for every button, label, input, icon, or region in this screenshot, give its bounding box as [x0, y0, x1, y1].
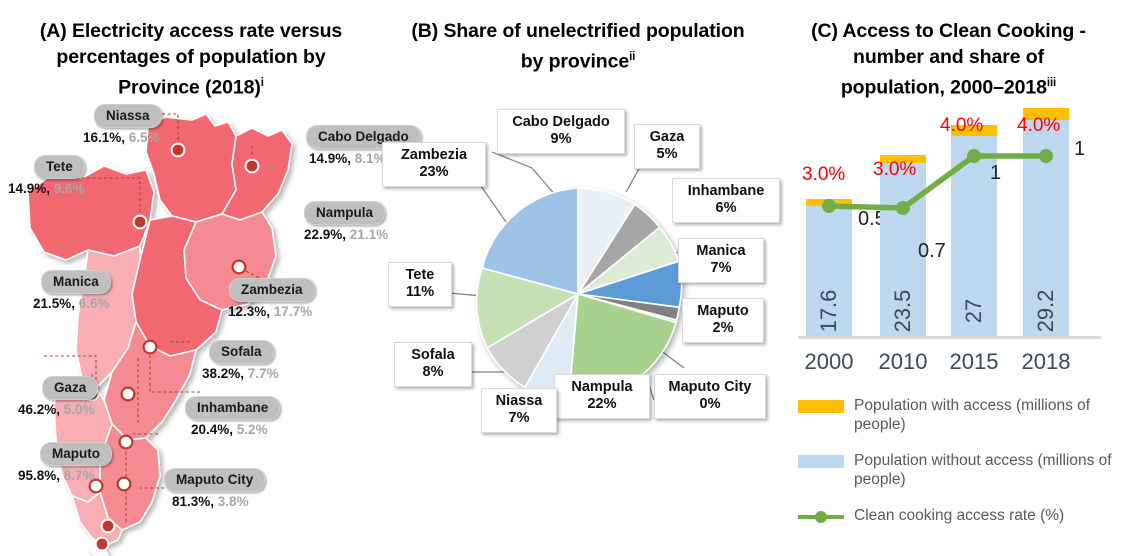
panel-a-title-line1: (A) Electricity access rate versus [40, 20, 342, 42]
clean-cooking-bar-chart: 17.6 0.5 3.0% 23.5 0.7 3.0% 27 1 4.0% 29… [774, 108, 1123, 383]
panel-b-title-line2: by province [521, 51, 629, 73]
pie-callout-value-maputo: 2% [690, 320, 756, 337]
map-pop-gaza: 5.0% [64, 402, 95, 417]
map-values-niassa: 16.1%, 6.5% [83, 130, 160, 145]
map-pop-maputo-city: 3.8% [218, 494, 249, 509]
panel-a-electricity-access-map: (A) Electricity access rate versus perce… [0, 0, 382, 556]
panel-b-title: (B) Share of unelectrified population by… [382, 0, 774, 75]
pie-callout-zambezia[interactable]: Zambezia 23% [382, 142, 486, 187]
map-label-niassa[interactable]: Niassa [94, 104, 162, 128]
line-point-2018[interactable] [1039, 149, 1053, 163]
line-point-2000[interactable] [822, 199, 836, 213]
map-access-maputo-city: 81.3% [172, 494, 210, 509]
map-values-cabo-delgado: 14.9%, 8.1% [309, 151, 386, 166]
panel-c-title-line2: number and share of [853, 46, 1044, 68]
pie-callout-label-manica: Manica [696, 243, 745, 259]
map-values-sofala: 38.2%, 7.7% [202, 366, 279, 381]
map-values-gaza: 46.2%, 5.0% [18, 402, 95, 417]
map-access-manica: 21.5% [33, 296, 71, 311]
legend-item-without-access[interactable]: Population without access (millions of p… [798, 451, 1123, 489]
legend-label-access-rate: Clean cooking access rate (%) [854, 506, 1064, 525]
green-line-icon [798, 510, 844, 523]
legend-item-access-rate[interactable]: Clean cooking access rate (%) [798, 506, 1123, 525]
pie-callout-value-tete: 11% [396, 284, 444, 301]
map-access-gaza: 46.2% [18, 402, 56, 417]
map-label-manica[interactable]: Manica [41, 270, 111, 294]
pie-callout-niassa[interactable]: Niassa 7% [481, 388, 557, 433]
map-label-maputo-city[interactable]: Maputo City [164, 468, 265, 492]
panel-a-title-line2: percentages of population by [56, 46, 325, 68]
pie-callout-gaza[interactable]: Gaza 5% [634, 124, 700, 169]
map-access-nampula: 22.9% [304, 227, 342, 242]
pie-callout-label-sofala: Sofala [411, 347, 455, 363]
panel-c-title-line3: population, 2000–2018 [841, 77, 1047, 99]
map-access-zambezia: 12.3% [228, 304, 266, 319]
map-label-gaza[interactable]: Gaza [42, 376, 98, 400]
pie-callout-label-maputo: Maputo [697, 303, 749, 319]
map-access-inhambane: 20.4% [191, 422, 229, 437]
panel-a-title-line3: Province (2018) [118, 77, 261, 99]
pie-callout-label-inhambane: Inhambane [688, 183, 765, 199]
map-pop-cabo-delgado: 8.1% [355, 151, 386, 166]
pie-slices [477, 188, 682, 400]
pie-callout-maputo-city[interactable]: Maputo City 0% [654, 374, 766, 419]
panel-b-title-line1: (B) Share of unelectrified population [411, 20, 744, 42]
x-axis-tick-2015: 2015 [939, 349, 1009, 375]
pie-callout-manica[interactable]: Manica 7% [678, 238, 764, 283]
pie-callout-value-sofala: 8% [402, 364, 464, 381]
pie-callout-label-tete: Tete [406, 267, 435, 283]
legend-item-with-access[interactable]: Population with access (millions of peop… [798, 396, 1123, 434]
pie-callout-label-nampula: Nampula [571, 379, 632, 395]
legend-label-without-access: Population without access (millions of p… [854, 451, 1123, 489]
pie-callout-tete[interactable]: Tete 11% [388, 262, 452, 307]
map-access-maputo: 95.8% [18, 468, 56, 483]
blue-swatch-icon [798, 455, 844, 468]
map-pop-sofala: 7.7% [248, 366, 279, 381]
x-axis-tick-2018: 2018 [1011, 349, 1081, 375]
yellow-swatch-icon [798, 400, 844, 413]
pie-callout-sofala[interactable]: Sofala 8% [394, 342, 472, 387]
map-values-maputo-city: 81.3%, 3.8% [172, 494, 249, 509]
pie-callout-label-cabo-delgado: Cabo Delgado [512, 114, 609, 130]
map-pop-niassa: 6.5% [129, 130, 160, 145]
map-pop-zambezia: 17.7% [274, 304, 312, 319]
pie-callout-value-gaza: 5% [642, 146, 692, 163]
map-values-maputo: 95.8%, 8.7% [18, 468, 95, 483]
map-values-inhambane: 20.4%, 5.2% [191, 422, 268, 437]
map-values-zambezia: 12.3%, 17.7% [228, 304, 312, 319]
panel-b-title-footnote: ii [629, 51, 635, 63]
map-label-maputo[interactable]: Maputo [40, 442, 112, 466]
pie-callout-value-zambezia: 23% [390, 164, 478, 181]
map-access-cabo-delgado: 14.9% [309, 151, 347, 166]
pie-callout-label-gaza: Gaza [650, 129, 685, 145]
chart-legend: Population with access (millions of peop… [798, 396, 1123, 542]
panel-c-title-line1: (C) Access to Clean Cooking - [811, 20, 1086, 42]
map-label-inhambane[interactable]: Inhambane [185, 396, 280, 420]
pie-callout-value-maputo-city: 0% [662, 396, 758, 413]
legend-label-with-access: Population with access (millions of peop… [854, 396, 1123, 434]
pie-callout-label-niassa: Niassa [496, 393, 543, 409]
pie-callout-value-niassa: 7% [489, 410, 549, 427]
line-point-2015[interactable] [967, 149, 981, 163]
pie-callout-value-nampula: 22% [562, 396, 642, 413]
map-pop-manica: 6.6% [79, 296, 110, 311]
panel-b-unelectrified-share-pie: (B) Share of unelectrified population by… [382, 0, 774, 556]
x-axis-tick-2010: 2010 [868, 349, 938, 375]
pie-callout-value-cabo-delgado: 9% [505, 131, 617, 148]
clean-cooking-access-rate-line [774, 108, 1123, 383]
map-values-manica: 21.5%, 6.6% [33, 296, 110, 311]
map-values-nampula: 22.9%, 21.1% [304, 227, 388, 242]
pie-callout-label-zambezia: Zambezia [401, 147, 467, 163]
map-label-sofala[interactable]: Sofala [209, 340, 274, 364]
panel-c-clean-cooking-chart: (C) Access to Clean Cooking - number and… [774, 0, 1123, 556]
map-pop-maputo: 8.7% [64, 468, 95, 483]
map-label-zambezia[interactable]: Zambezia [229, 278, 315, 302]
map-label-tete[interactable]: Tete [34, 155, 85, 179]
map-access-tete: 14.9% [8, 181, 46, 196]
pie-callout-label-maputo-city: Maputo City [669, 379, 752, 395]
panel-c-title-footnote: iii [1047, 77, 1056, 89]
panel-a-title-footnote: i [261, 77, 264, 89]
line-point-2010[interactable] [896, 201, 910, 215]
map-pop-tete: 9.6% [54, 181, 85, 196]
pie-callout-value-inhambane: 6% [680, 200, 772, 217]
pie-callout-cabo-delgado[interactable]: Cabo Delgado 9% [497, 109, 625, 154]
pie-chart: Cabo Delgado 9% Gaza 5% Inhambane 6% Man… [382, 100, 774, 440]
map-access-sofala: 38.2% [202, 366, 240, 381]
map-pop-inhambane: 5.2% [237, 422, 268, 437]
pie-callout-maputo[interactable]: Maputo 2% [682, 298, 764, 343]
mozambique-province-map: Niassa 16.1%, 6.5% Cabo Delgado 14.9%, 8… [0, 104, 382, 556]
panel-a-title: (A) Electricity access rate versus perce… [0, 0, 382, 101]
x-axis-tick-2000: 2000 [794, 349, 864, 375]
panel-c-title: (C) Access to Clean Cooking - number and… [774, 0, 1123, 101]
map-values-tete: 14.9%, 9.6% [8, 181, 85, 196]
map-label-nampula[interactable]: Nampula [304, 201, 385, 225]
pie-callout-value-manica: 7% [686, 260, 756, 277]
pie-callout-nampula[interactable]: Nampula 22% [554, 374, 650, 419]
map-access-niassa: 16.1% [83, 130, 121, 145]
pie-callout-inhambane[interactable]: Inhambane 6% [672, 178, 780, 223]
